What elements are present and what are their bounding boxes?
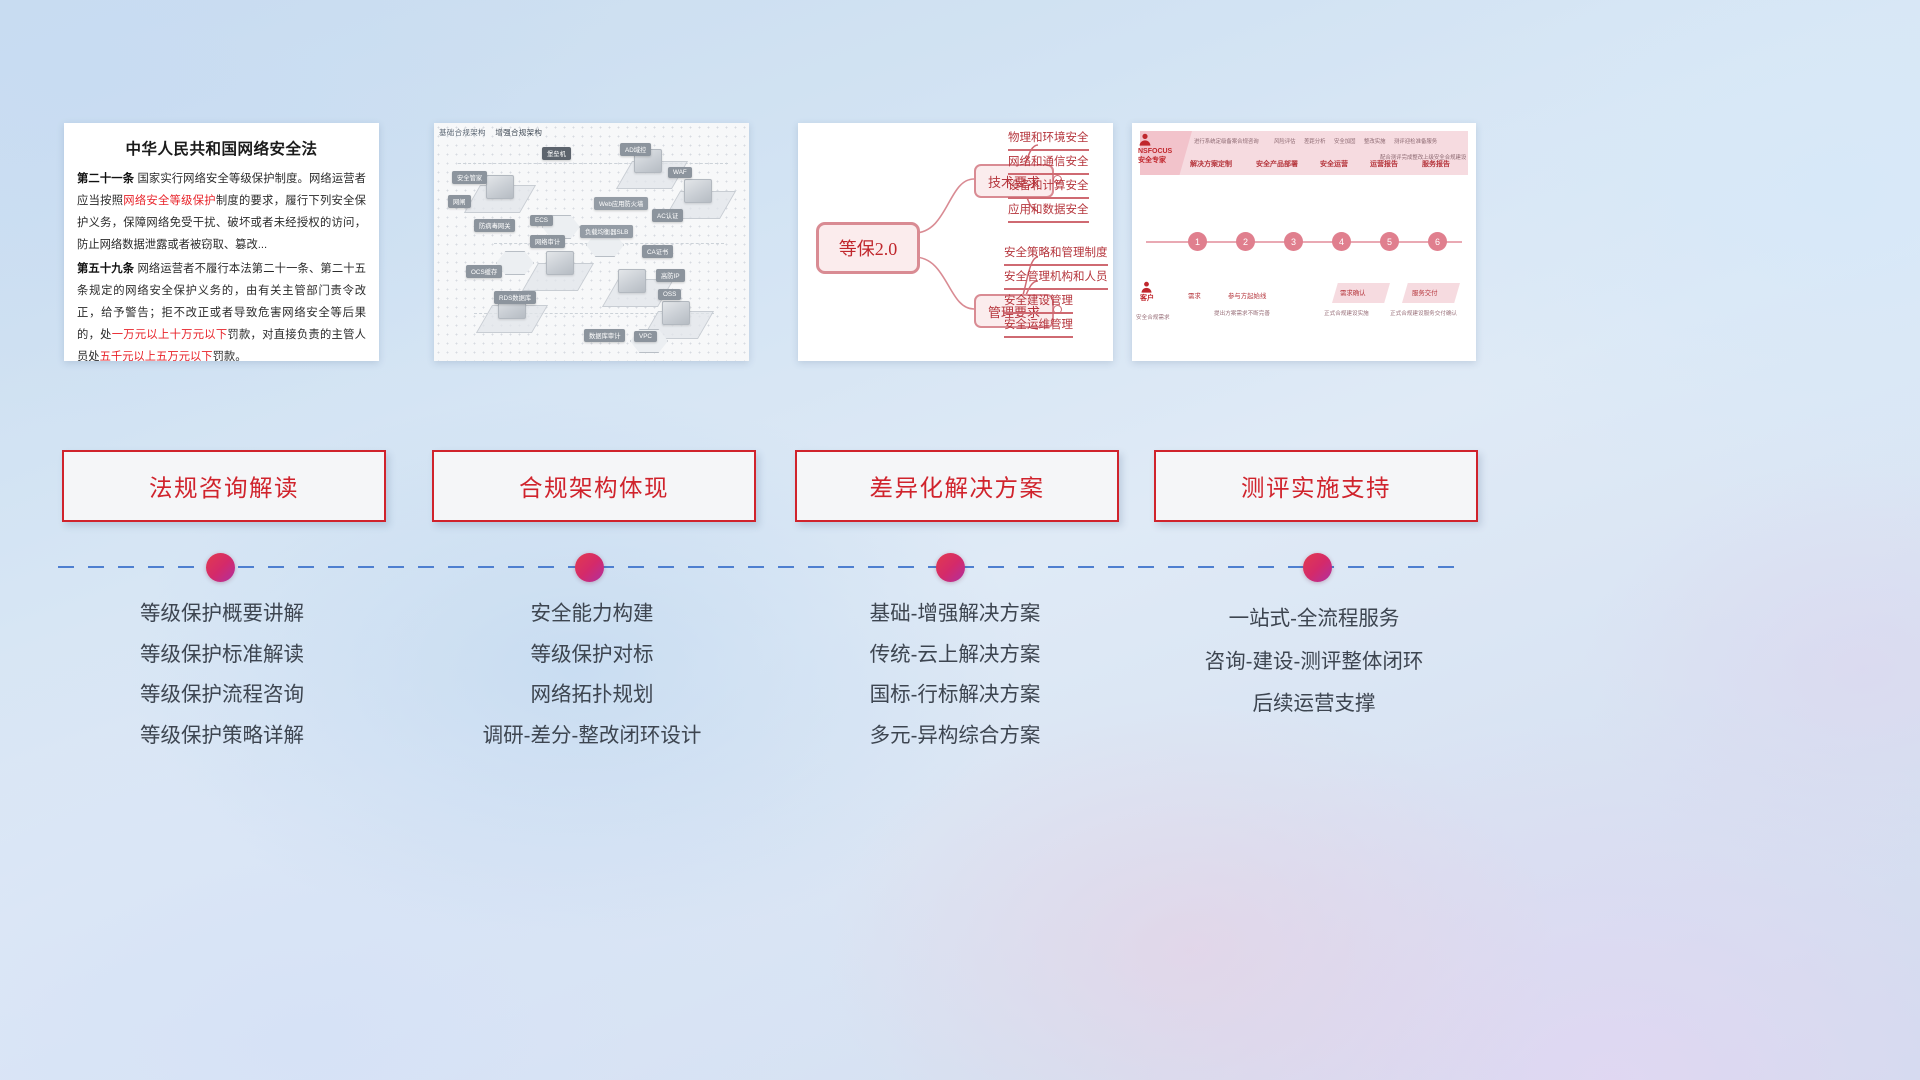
mindmap-leaf-m2: 安全建设管理 — [1004, 294, 1073, 314]
timeline-dot-2[interactable] — [575, 553, 604, 582]
customer-label: 客户 — [1140, 294, 1154, 303]
feature-column-3: 基础-增强解决方案 传统-云上解决方案 国标-行标解决方案 多元-异构综合方案 — [795, 604, 1115, 766]
arch-guide-1 — [458, 163, 728, 164]
nsfocus-logo-line1: NSFOCUS — [1138, 147, 1172, 156]
list-item: 等级保护对标 — [432, 645, 752, 666]
list-item: 多元-异构综合方案 — [795, 726, 1115, 747]
arch-node-15: 高防IP — [656, 269, 685, 282]
list-item: 等级保护策略详解 — [62, 726, 382, 747]
person-icon — [1138, 133, 1152, 146]
arch-node-11: VPC — [634, 331, 657, 342]
timeline-dot-3[interactable] — [936, 553, 965, 582]
list-item: 一站式-全流程服务 — [1154, 609, 1474, 630]
arch-node-6: WAF — [668, 167, 692, 178]
service-step-6: 6 — [1428, 232, 1447, 251]
arch-node-14: CA证书 — [642, 245, 673, 258]
headline-label-2: 合规架构体现 — [519, 469, 669, 503]
card-service-timeline[interactable]: NSFOCUS 安全专家 进行系统定级备案合规咨询 风险评估 差距分析 安全加固… — [1132, 123, 1476, 361]
headline-label-4: 测评实施支持 — [1241, 469, 1391, 503]
mindmap-core: 等保2.0 — [816, 222, 920, 274]
list-item: 安全能力构建 — [432, 604, 752, 625]
service-label-3: 运营报告 — [1370, 159, 1398, 169]
headline-box-2[interactable]: 合规架构体现 — [432, 450, 756, 522]
architecture-canvas: 基础合规架构 增强合规架构 堡垒机 — [434, 123, 749, 361]
service-label-1: 安全产品部署 — [1256, 159, 1298, 169]
nsfocus-logo: NSFOCUS 安全专家 — [1138, 133, 1172, 166]
architecture-header: 基础合规架构 增强合规架构 — [439, 127, 542, 138]
arch-node-10: OSS — [658, 289, 681, 300]
card-law-document[interactable]: 中华人民共和国网络安全法 第二十一条 国家实行网络安全等级保护制度。网络运营者应… — [64, 123, 379, 361]
headline-label-1: 法规咨询解读 — [149, 469, 299, 503]
cards-row: 中华人民共和国网络安全法 第二十一条 国家实行网络安全等级保护制度。网络运营者应… — [0, 123, 1920, 363]
service-timeline-canvas: NSFOCUS 安全专家 进行系统定级备案合规咨询 风险评估 差距分析 安全加固… — [1132, 123, 1476, 361]
arch-node-7: Web应用防火墙 — [594, 197, 648, 210]
list-item: 咨询-建设-测评整体闭环 — [1154, 652, 1474, 673]
arch-node-9: ECS — [530, 215, 553, 226]
dashed-timeline — [58, 566, 1458, 568]
mindmap-leaf-m1: 安全管理机构和人员 — [1004, 270, 1108, 290]
article-21-label: 第二十一条 — [77, 173, 134, 185]
law-body: 第二十一条 国家实行网络安全等级保护制度。网络运营者应当按照网络安全等级保护制度… — [64, 168, 379, 361]
service-top-label-4: 整改实施 — [1364, 137, 1386, 145]
service-top-label-0: 进行系统定级备案合规咨询 — [1194, 137, 1259, 145]
arch-node-1: 安全管家 — [452, 171, 487, 184]
service-top-label-5: 测评迎检准备服务 — [1394, 137, 1437, 145]
arch-node-5: 数据库审计 — [584, 329, 625, 342]
arch-node-0: 堡垒机 — [542, 147, 571, 160]
service-step-1: 1 — [1188, 232, 1207, 251]
headline-box-1[interactable]: 法规咨询解读 — [62, 450, 386, 522]
arch-cube-5 — [618, 269, 646, 293]
article-59-highlight-2: 五千元以上五万元以下 — [100, 351, 213, 361]
mindmap-leaf-t1: 网络和通信安全 — [1008, 155, 1089, 175]
article-21-highlight: 网络安全等级保护 — [123, 195, 216, 207]
service-bottom-label-2: 需求 — [1188, 291, 1201, 300]
article-59-text-3: 罚款。 — [213, 351, 247, 361]
arch-node-3: 防病毒网关 — [474, 219, 515, 232]
arch-node-2: 网闸 — [448, 195, 471, 208]
service-top-label-3: 安全加固 — [1334, 137, 1356, 145]
list-item: 传统-云上解决方案 — [795, 645, 1115, 666]
service-bottom-small-1: 正式合规建设服务交付确认 — [1390, 309, 1457, 317]
service-bottom-label-5: 需求确认 — [1340, 288, 1366, 297]
service-bottom-small-0: 正式合规建设实施 — [1324, 309, 1369, 317]
service-step-2: 2 — [1236, 232, 1255, 251]
article-59-label: 第五十九条 — [77, 263, 134, 275]
law-title: 中华人民共和国网络安全法 — [64, 137, 379, 159]
service-bottom-label-4: 提出方案需求不断完善 — [1214, 309, 1270, 317]
mindmap-canvas: 等保2.0 技术要求 物理和环境安全 网络和通信安全 设备和计算安全 应用和数据… — [798, 123, 1113, 361]
arch-node-16: AC认证 — [652, 209, 683, 222]
mindmap-leaf-t0: 物理和环境安全 — [1008, 131, 1089, 151]
arch-node-17: AD域控 — [620, 143, 651, 156]
timeline-dot-4[interactable] — [1303, 553, 1332, 582]
service-bottom-label-6: 服务交付 — [1412, 288, 1438, 297]
feature-column-4: 一站式-全流程服务 咨询-建设-测评整体闭环 后续运营支撑 — [1154, 609, 1474, 737]
headline-label-3: 差异化解决方案 — [870, 469, 1045, 503]
arch-cube-3 — [684, 179, 712, 203]
service-top-label-2: 差距分析 — [1304, 137, 1326, 145]
arch-cube-1 — [486, 175, 514, 199]
service-step-3: 3 — [1284, 232, 1303, 251]
list-item: 等级保护流程咨询 — [62, 685, 382, 706]
feature-column-1: 等级保护概要讲解 等级保护标准解读 等级保护流程咨询 等级保护策略详解 — [62, 604, 382, 766]
list-item: 调研-差分-整改闭环设计 — [432, 726, 752, 747]
list-item: 后续运营支撑 — [1154, 694, 1474, 715]
service-label-4: 服务报告 — [1422, 159, 1450, 169]
service-step-5: 5 — [1380, 232, 1399, 251]
list-item: 等级保护标准解读 — [62, 645, 382, 666]
arch-cube-4 — [546, 251, 574, 275]
mindmap-leaf-t2: 设备和计算安全 — [1008, 179, 1089, 199]
customer-icon-group: 客户 — [1140, 281, 1154, 303]
service-top-label-1: 风险评估 — [1274, 137, 1296, 145]
mindmap-leaf-m3: 安全运维管理 — [1004, 318, 1073, 338]
list-item: 国标-行标解决方案 — [795, 685, 1115, 706]
list-item: 基础-增强解决方案 — [795, 604, 1115, 625]
arch-cube-7 — [662, 301, 690, 325]
article-59-highlight-1: 一万元以上十万元以下 — [112, 329, 228, 341]
headline-box-4[interactable]: 测评实施支持 — [1154, 450, 1478, 522]
arch-node-12: RDS数据库 — [494, 291, 536, 304]
law-article-59: 第五十九条 网络运营者不履行本法第二十一条、第二十五条规定的网络安全保护义务的，… — [77, 258, 366, 361]
mindmap-leaf-m0: 安全策略和管理制度 — [1004, 246, 1108, 266]
card-mindmap[interactable]: 等保2.0 技术要求 物理和环境安全 网络和通信安全 设备和计算安全 应用和数据… — [798, 123, 1113, 361]
arch-node-13: OCS缓存 — [466, 265, 502, 278]
architecture-header-right: 增强合规架构 — [495, 128, 542, 137]
card-architecture-diagram[interactable]: 基础合规架构 增强合规架构 堡垒机 — [434, 123, 749, 361]
mindmap-leaf-t3: 应用和数据安全 — [1008, 203, 1089, 223]
service-label-0: 解决方案定制 — [1190, 159, 1232, 169]
arch-node-4: 网络审计 — [530, 235, 565, 248]
timeline-dot-1[interactable] — [206, 553, 235, 582]
service-bottom-label-3: 参与方起始线 — [1228, 291, 1266, 300]
nsfocus-logo-line2: 安全专家 — [1138, 156, 1172, 165]
service-bottom-label-1: 安全合规需求 — [1136, 313, 1170, 321]
list-item: 网络拓扑规划 — [432, 685, 752, 706]
architecture-header-left: 基础合规架构 — [439, 128, 486, 137]
law-article-21: 第二十一条 国家实行网络安全等级保护制度。网络运营者应当按照网络安全等级保护制度… — [77, 168, 366, 256]
list-item: 等级保护概要讲解 — [62, 604, 382, 625]
service-step-4: 4 — [1332, 232, 1351, 251]
service-label-2: 安全运营 — [1320, 159, 1348, 169]
headline-box-3[interactable]: 差异化解决方案 — [795, 450, 1119, 522]
feature-column-2: 安全能力构建 等级保护对标 网络拓扑规划 调研-差分-整改闭环设计 — [432, 604, 752, 766]
customer-icon — [1140, 281, 1153, 293]
arch-node-8: 负载均衡器SLB — [580, 225, 633, 238]
